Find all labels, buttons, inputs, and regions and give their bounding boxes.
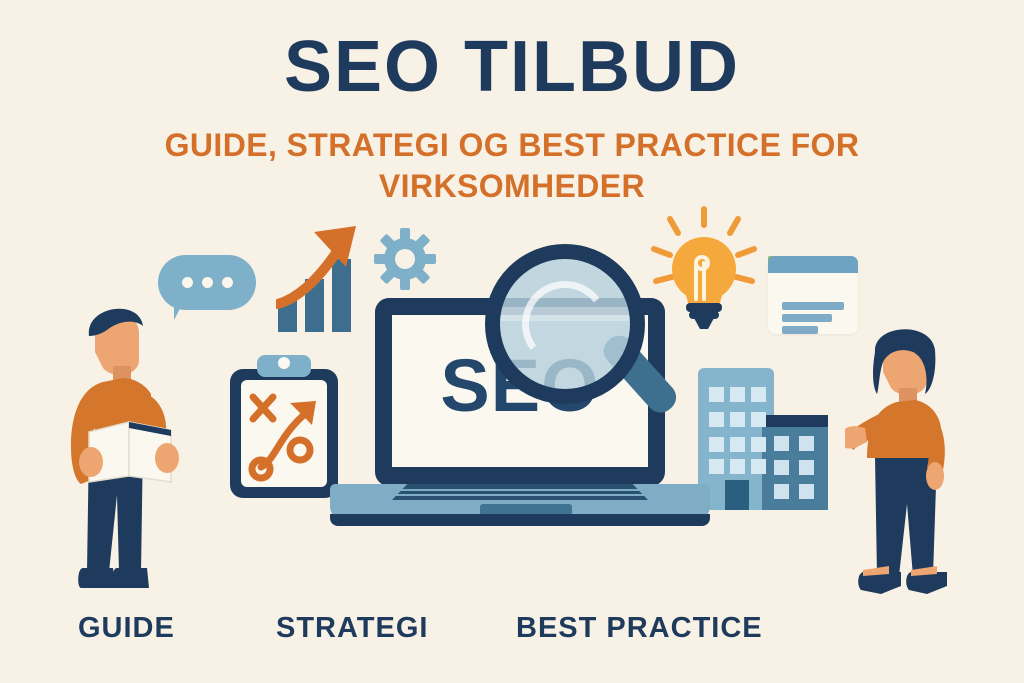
clipboard-strategy-icon [228,355,340,500]
building-short [762,415,828,510]
building-window [799,484,814,499]
building-window [799,436,814,451]
document-card-row [782,326,818,334]
laptop-keyboard-deck [392,484,648,500]
page-title: SEO TILBUD [0,28,1024,106]
document-card-row [782,302,844,310]
infographic-canvas: SEO TILBUD GUIDE, STRATEGI OG BEST PRACT… [0,0,1024,683]
building-window [751,387,766,402]
speech-bubble-dot [222,277,233,288]
building-window [774,436,789,451]
caption-guide: GUIDE [78,612,175,645]
building-window [709,387,724,402]
building-window [751,437,766,452]
speech-bubble-dot [182,277,193,288]
building-window [751,412,766,427]
document-card-row [782,314,832,322]
page-subtitle: GUIDE, STRATEGI OG BEST PRACTICE FOR VIR… [92,125,932,207]
speech-bubble-dot [202,277,213,288]
person-presenting-illustration [845,318,965,610]
building-window [730,412,745,427]
building-window [730,459,745,474]
laptop-keyboard-line [396,494,644,496]
magnifier-lens-glint [516,275,613,372]
building-window [799,460,814,475]
document-card-header [768,256,858,273]
building-window [709,437,724,452]
magnifier-icon [475,240,685,440]
building-window [774,460,789,475]
building-short-roof [762,415,828,427]
gear-icon [374,228,436,290]
person-reading-illustration [55,290,185,600]
caption-best-practice: BEST PRACTICE [516,612,763,645]
magnifier-lens [485,244,645,404]
building-window [709,459,724,474]
building-window [774,484,789,499]
building-window [709,412,724,427]
buildings-icon [698,368,840,510]
caption-strategi: STRATEGI [276,612,428,645]
building-window [730,437,745,452]
laptop-base-lip [330,514,710,526]
building-window [751,459,766,474]
building-door [725,480,749,510]
laptop-keyboard-line [400,489,640,491]
building-window [730,387,745,402]
